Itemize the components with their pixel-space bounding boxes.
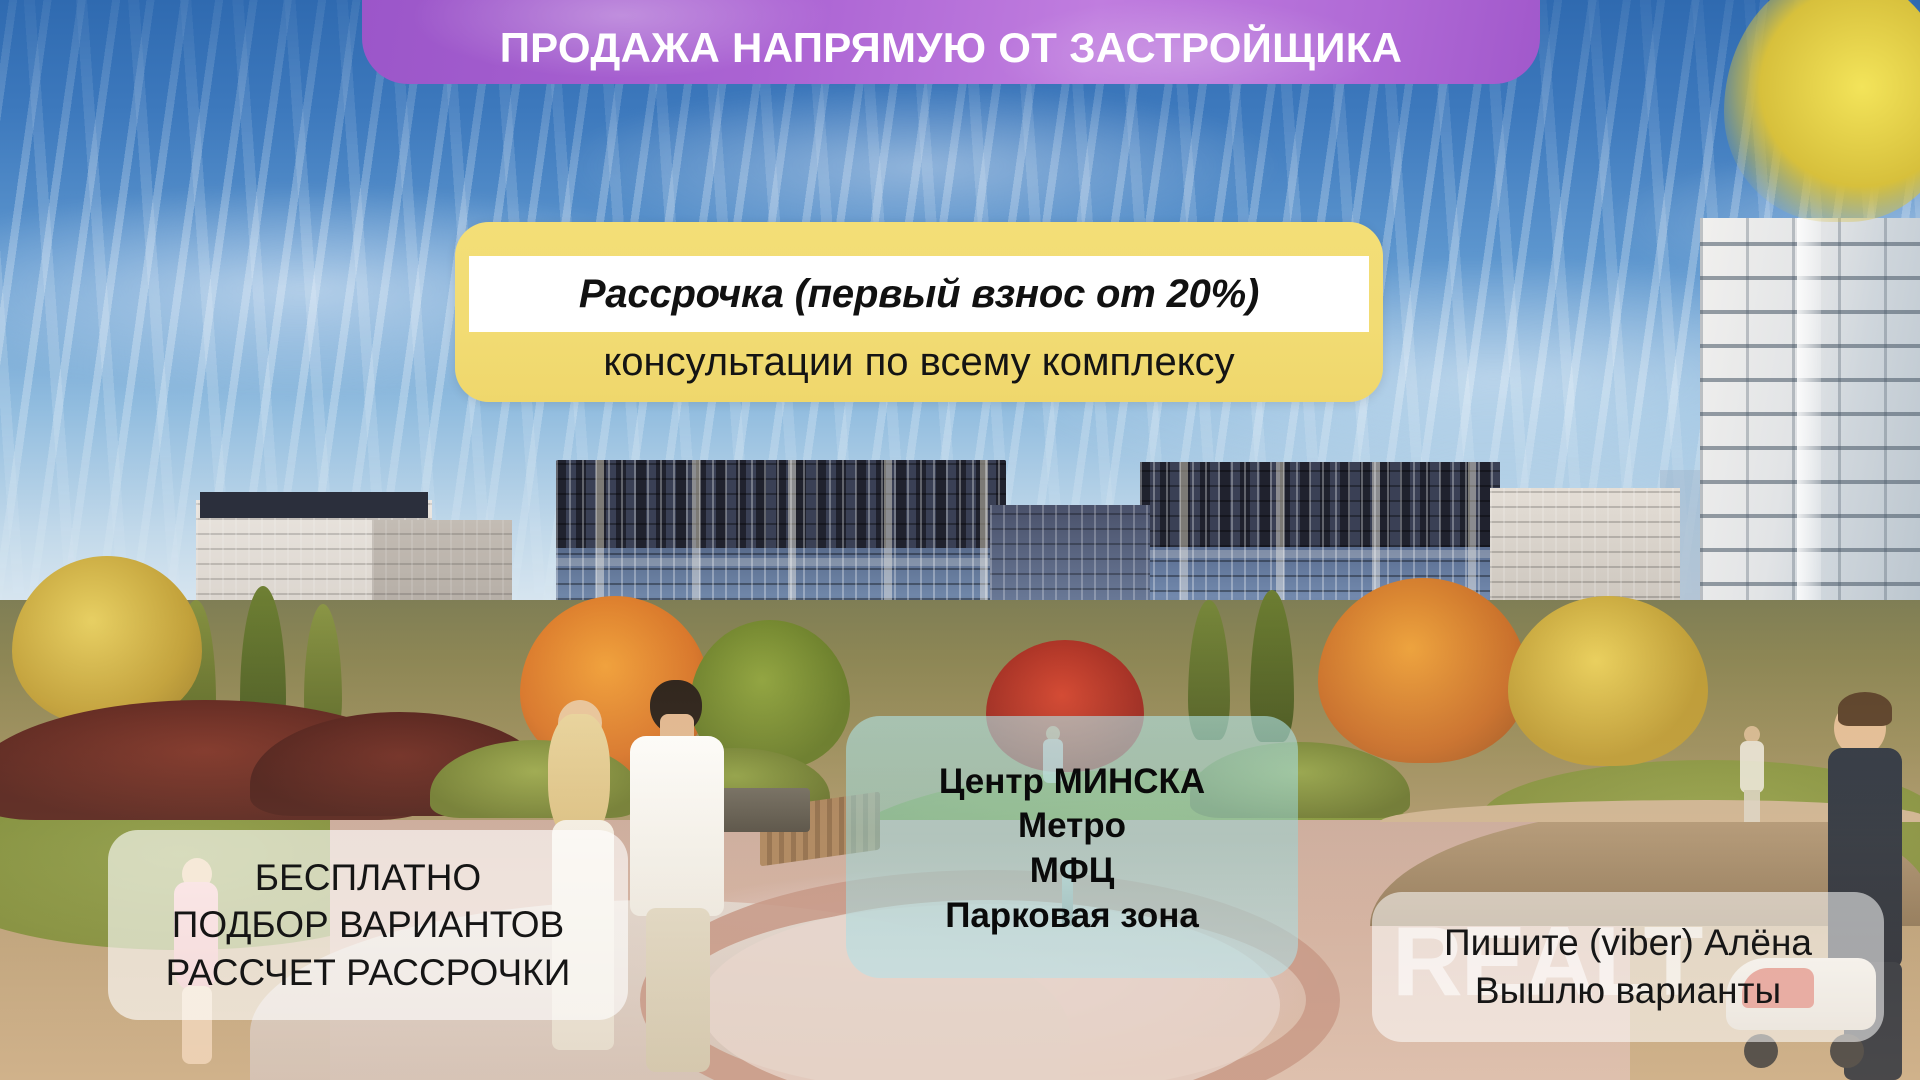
feature-line-metro: Метро [1018,805,1126,848]
feature-line-center-minsk: Центр МИНСКА [939,761,1205,804]
contact-line-send-options: Вышлю варианты [1475,967,1781,1015]
feature-line-park-zone: Парковая зона [945,895,1199,938]
headline-banner: ПРОДАЖА НАПРЯМУЮ ОТ ЗАСТРОЙЩИКА [362,0,1540,84]
service-line-free: БЕСПЛАТНО [255,854,481,901]
contact-card: Пишите (viber) Алёна Вышлю варианты [1372,892,1884,1042]
service-line-calculation: РАССЧЕТ РАССРОЧКИ [166,949,571,996]
services-card: БЕСПЛАТНО ПОДБОР ВАРИАНТОВ РАССЧЕТ РАССР… [108,830,628,1020]
headline-text: ПРОДАЖА НАПРЯМУЮ ОТ ЗАСТРОЙЩИКА [500,24,1403,72]
offer-subtitle-text: консультации по всему комплексу [455,340,1383,385]
tree-foliage-topright [1724,0,1920,222]
offer-card: Рассрочка (первый взнос от 20%) консульт… [455,222,1383,402]
offer-highlight-strip: Рассрочка (первый взнос от 20%) [469,256,1369,332]
advertisement-banner: ПРОДАЖА НАПРЯМУЮ ОТ ЗАСТРОЙЩИКА Рассрочк… [0,0,1920,1080]
person-man-white-shirt [624,680,728,1076]
offer-highlight-text: Рассрочка (первый взнос от 20%) [579,272,1259,317]
service-line-options: ПОДБОР ВАРИАНТОВ [172,901,564,948]
contact-line-viber: Пишите (viber) Алёна [1444,919,1812,967]
person-distant-right [1736,726,1766,822]
building-left-dark-cap [200,492,428,518]
features-card: Центр МИНСКА Метро МФЦ Парковая зона [846,716,1298,978]
feature-line-mfc: МФЦ [1030,850,1115,893]
